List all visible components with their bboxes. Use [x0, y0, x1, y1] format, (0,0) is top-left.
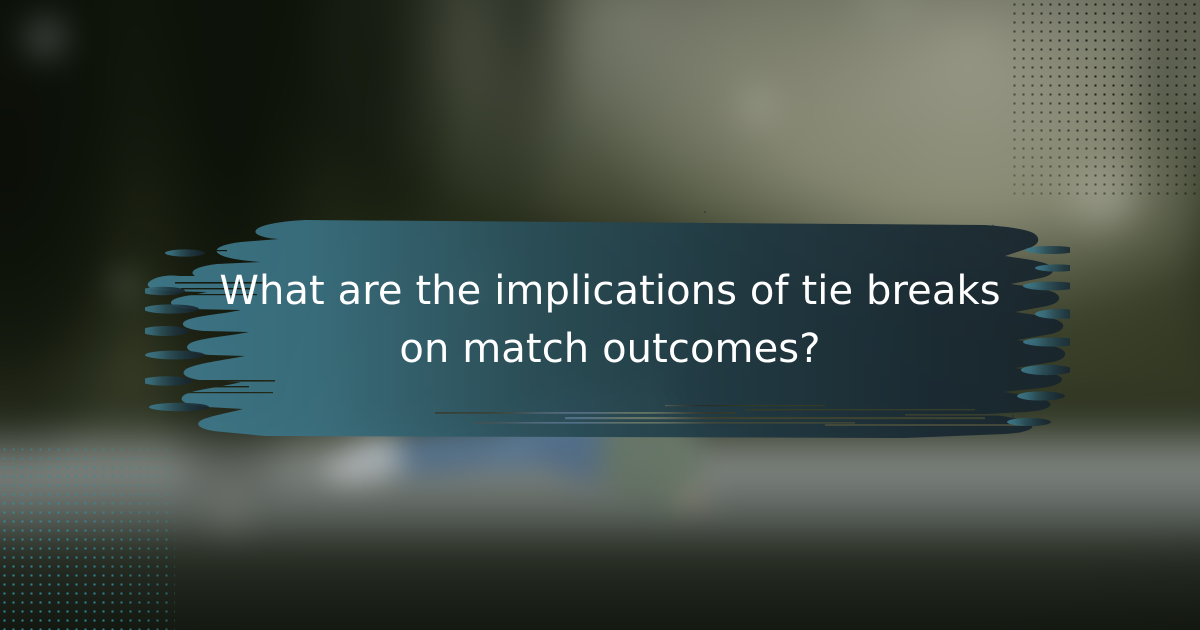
social-card-canvas: What are the implications of tie breaks …	[0, 0, 1200, 630]
headline-text: What are the implications of tie breaks …	[200, 262, 1020, 378]
